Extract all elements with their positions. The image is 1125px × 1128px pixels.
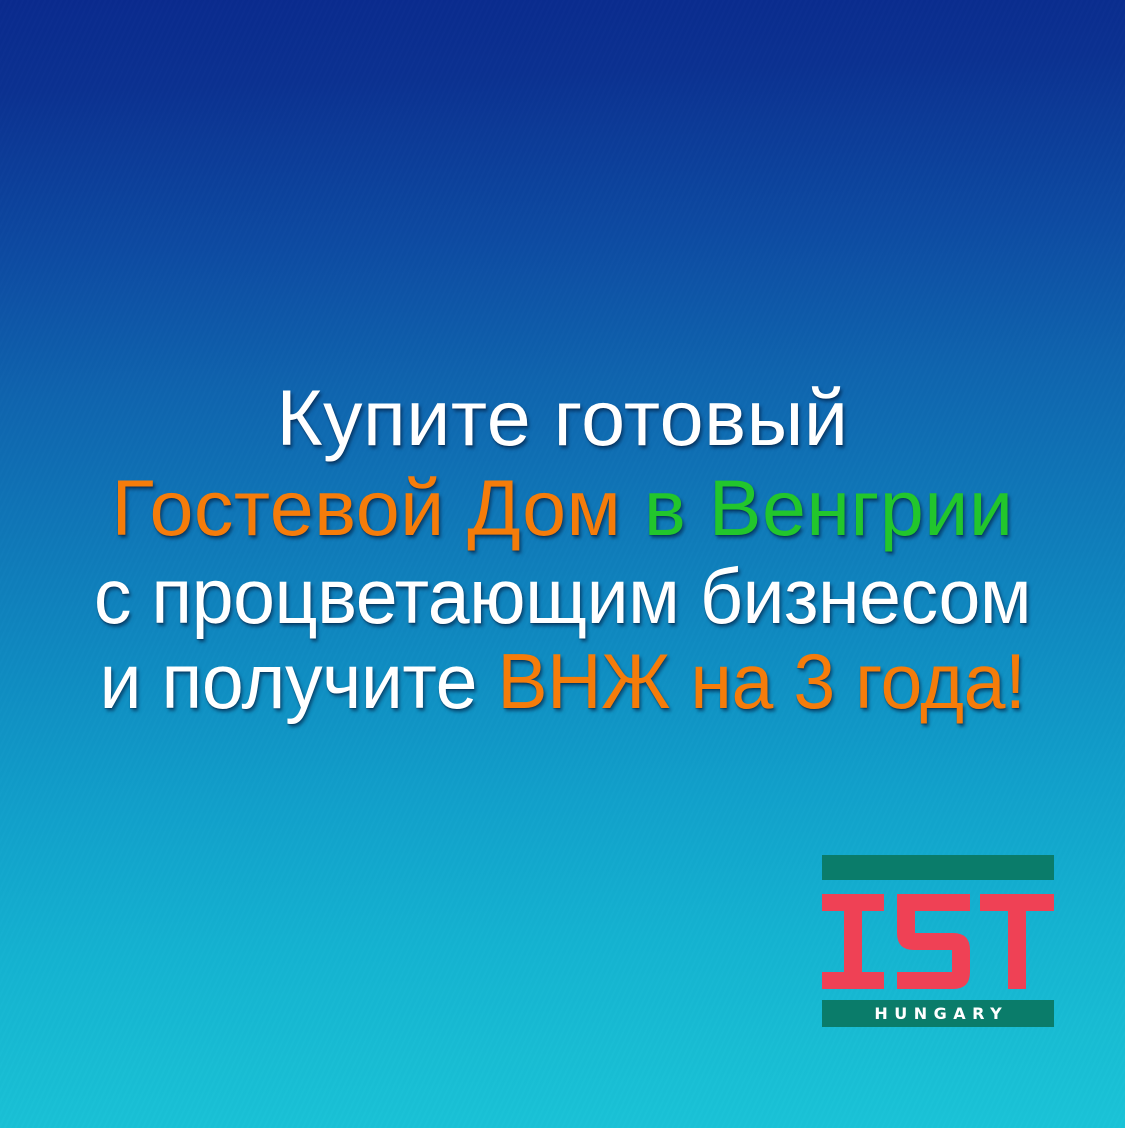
headline-block: Купите готовый Гостевой Дом в Венгрии с … [0, 378, 1125, 720]
headline-accent-residence-permit: ВНЖ на 3 года! [497, 637, 1025, 725]
logo-subtitle: HUNGARY [868, 1006, 1008, 1022]
headline-line-2: Гостевой Дом в Венгрии [0, 468, 1125, 547]
headline-line-2-space [621, 463, 643, 552]
headline-line-1: Купите готовый [0, 378, 1125, 457]
ist-wordmark-icon [822, 894, 1054, 989]
headline-accent-hungary: в Венгрии [644, 463, 1014, 552]
logo-top-bar [822, 855, 1054, 880]
headline-line-4-prefix: и получите [100, 637, 498, 725]
headline-accent-guesthouse: Гостевой Дом [111, 463, 621, 552]
headline-line-3-text: с процветающим бизнесом [94, 552, 1031, 640]
ist-hungary-logo: HUNGARY [822, 855, 1054, 1027]
logo-bottom-bar: HUNGARY [822, 1000, 1054, 1027]
headline-line-4: и получите ВНЖ на 3 года! [20, 642, 1106, 720]
headline-line-3: с процветающим бизнесом [20, 557, 1106, 635]
headline-line-1-text: Купите готовый [277, 373, 849, 462]
promo-banner: Купите готовый Гостевой Дом в Венгрии с … [0, 0, 1125, 1128]
